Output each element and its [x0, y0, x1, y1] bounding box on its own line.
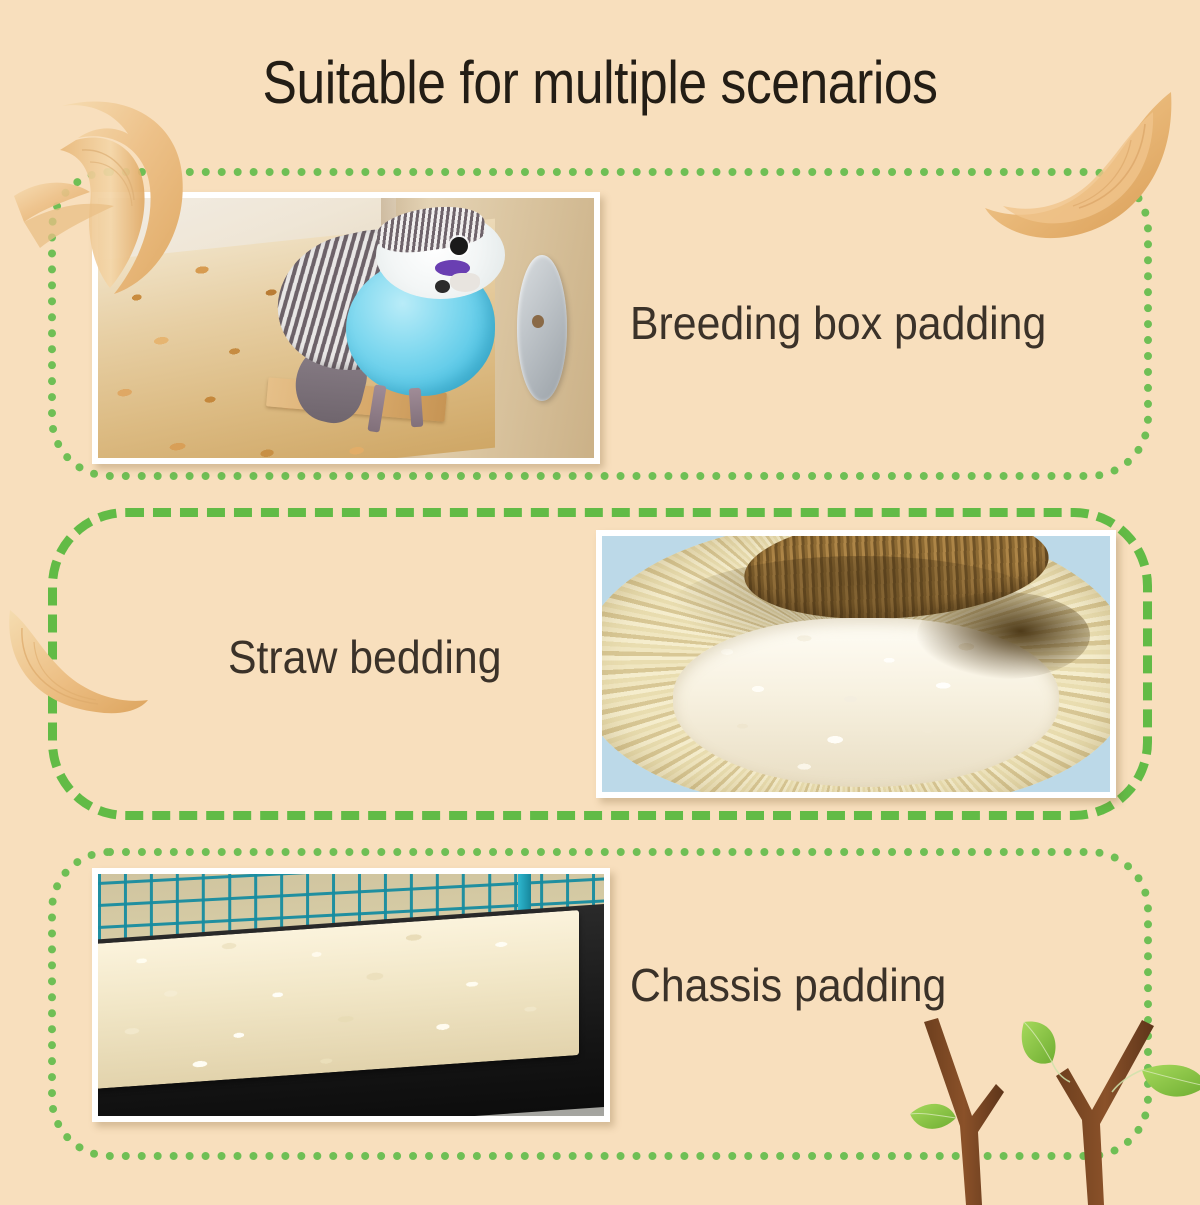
scenario-label-chassis-padding: Chassis padding — [630, 958, 946, 1012]
infographic-canvas: Suitable for multiple scenarios Breedin — [0, 0, 1200, 1200]
scenario-image-straw-bedding — [596, 530, 1116, 798]
scenario-image-breeding-box-padding — [92, 192, 600, 464]
scenario-label-straw-bedding: Straw bedding — [228, 630, 502, 684]
page-title: Suitable for multiple scenarios — [84, 48, 1116, 117]
scenario-image-chassis-padding — [92, 868, 610, 1122]
scenario-label-breeding-box-padding: Breeding box padding — [630, 296, 1046, 350]
